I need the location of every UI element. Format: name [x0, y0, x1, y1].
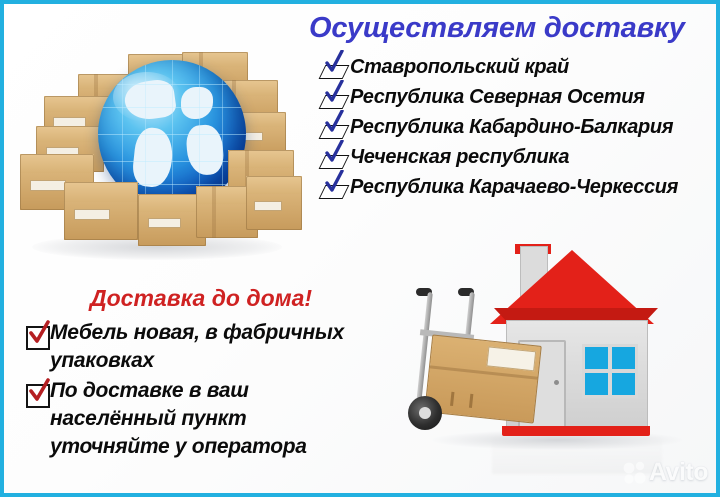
checkbox-checked-icon — [24, 323, 50, 349]
promo-line: Мебель новая, в фабричных — [50, 321, 344, 344]
checkbox-checked-icon — [24, 381, 50, 407]
promo-item-text: По доставке в ваш населённый пункт уточн… — [50, 377, 307, 461]
list-item: По доставке в ваш населённый пункт уточн… — [24, 377, 389, 461]
door-knob — [554, 380, 559, 385]
region-label: Республика Карачаево-Черкессия — [350, 176, 678, 199]
region-label: Республика Кабардино-Балкария — [350, 116, 673, 139]
promo-conditions-list: Мебель новая, в фабричных упаковках По д… — [24, 319, 389, 463]
avito-watermark-text: Avito — [649, 458, 708, 487]
promo-line: упаковках — [50, 349, 154, 372]
globe-with-parcel-boxes-illustration — [10, 26, 302, 274]
promo-line: По доставке в ваш — [50, 379, 249, 402]
window — [582, 344, 638, 398]
check-tray-icon — [320, 114, 350, 140]
list-item: Республика Карачаево-Черкессия — [320, 172, 720, 202]
list-item: Чеченская республика — [320, 142, 720, 172]
check-tray-icon — [320, 54, 350, 80]
hand-truck-wheel — [408, 396, 442, 430]
promo-title: Доставка до дома! — [90, 285, 312, 312]
region-label: Ставропольский край — [350, 56, 569, 79]
promo-line: уточняйте у оператора — [50, 435, 307, 458]
list-item: Республика Кабардино-Балкария — [320, 112, 720, 142]
page-title: Осуществляем доставку — [309, 12, 720, 45]
delivery-regions-list: Ставропольский край Республика Северная … — [320, 52, 720, 202]
avito-watermark: Avito — [623, 458, 708, 487]
avito-logo-icon — [623, 461, 649, 485]
list-item: Республика Северная Осетия — [320, 82, 720, 112]
promo-line: населённый пункт — [50, 407, 246, 430]
house-with-hand-truck-illustration — [402, 244, 720, 484]
check-tray-icon — [320, 144, 350, 170]
check-tray-icon — [320, 84, 350, 110]
region-label: Чеченская республика — [350, 146, 569, 169]
promo-item-text: Мебель новая, в фабричных упаковках — [50, 319, 344, 375]
delivery-advert-poster: Осуществляем доставку Ставропольский кра… — [0, 0, 720, 497]
parcel-box — [64, 182, 138, 240]
list-item: Мебель новая, в фабричных упаковках — [24, 319, 389, 375]
check-tray-icon — [320, 174, 350, 200]
list-item: Ставропольский край — [320, 52, 720, 82]
parcel-box — [246, 176, 302, 230]
region-label: Республика Северная Осетия — [350, 86, 645, 109]
